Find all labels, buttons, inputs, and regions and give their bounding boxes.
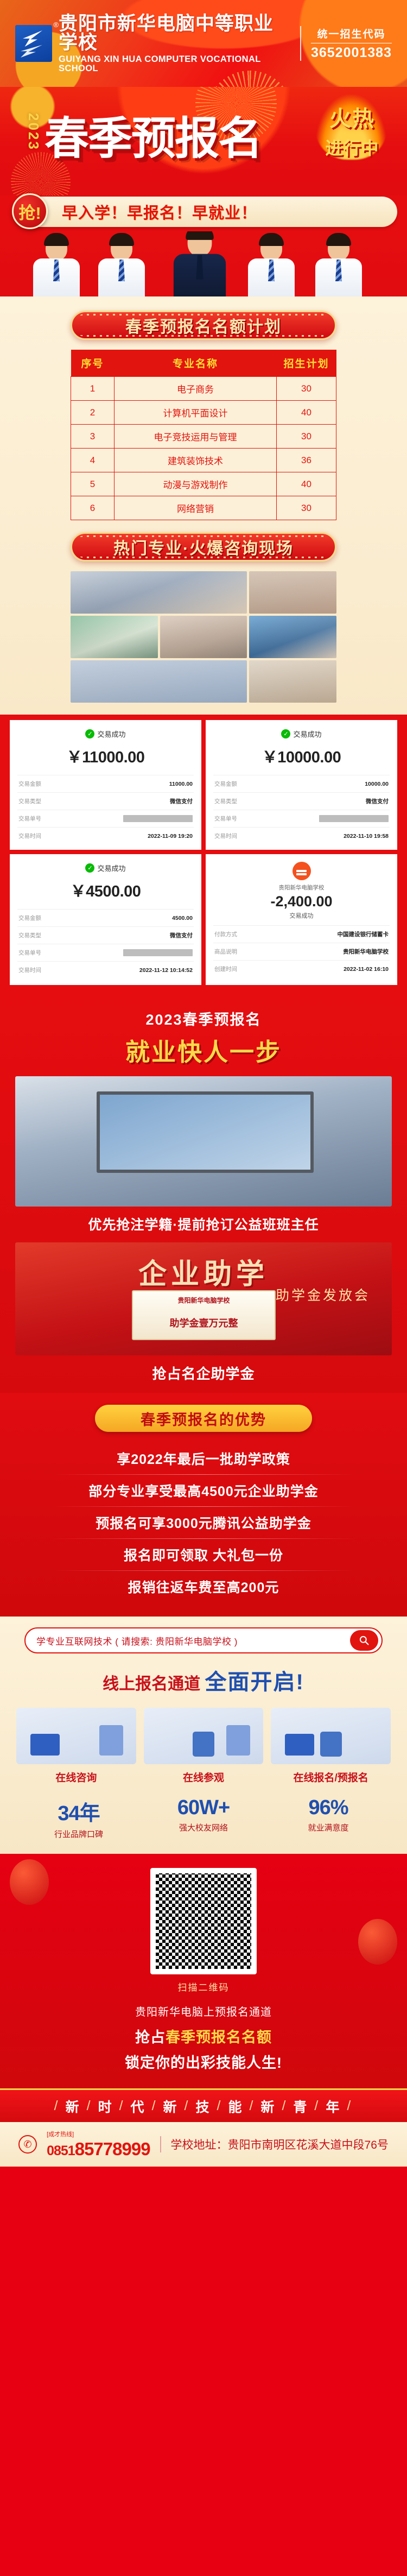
stat-number: 34年 — [16, 1796, 141, 1826]
cell-major: 建筑装饰技术 — [115, 449, 277, 472]
channel-headline: 线上报名通道 全面开启! — [0, 1664, 407, 1696]
hero-title: 春季预报名 — [44, 102, 262, 167]
value-time: 2022-11-12 10:14:52 — [139, 967, 193, 974]
slogan-separator: / — [217, 2098, 223, 2114]
cell-major: 电子竞技运用与管理 — [115, 425, 277, 449]
receipt-row-type: 交易类型 微信支付 — [213, 792, 390, 810]
slogan-char: 能 — [228, 2097, 244, 2116]
hotline-block[interactable]: [成才热线] 085185778999 — [47, 2129, 150, 2160]
slogan-separator: / — [54, 2098, 60, 2114]
cell-quota: 30 — [277, 377, 336, 401]
cell-quota: 36 — [277, 449, 336, 472]
consult-photo — [160, 616, 247, 658]
cell-no: 3 — [71, 425, 115, 449]
receipt-row-type: 交易类型 微信支付 — [17, 926, 194, 944]
value-type: 微信支付 — [366, 797, 389, 805]
channel-card-label: 在线咨询 — [16, 1770, 136, 1784]
slogan-separator: / — [185, 2098, 190, 2114]
hot-badge: 火热 进行中 — [311, 101, 393, 160]
search-input[interactable]: 学专业互联网技术 ( 请搜索: 贵阳新华电脑学校 ) — [36, 1634, 350, 1647]
value-amount: 11000.00 — [169, 781, 193, 787]
cell-no: 4 — [71, 449, 115, 472]
enrollment-code-label: 统一招生代码 — [311, 26, 392, 41]
employment-heading-small: 2023春季预报名 — [0, 1008, 407, 1029]
success-check-icon: ✓ — [281, 729, 290, 738]
hero-banner: 2023 春季预报名 火热 进行中 — [0, 87, 407, 195]
employment-section: 2023春季预报名 就业快人一步 优先抢注学籍·提前抢订公益班班主任 企业助学 … — [0, 994, 407, 1393]
consult-photo — [71, 616, 158, 658]
receipt-status-text: 交易成功 — [97, 729, 125, 739]
receipt-status-text: 交易成功 — [293, 729, 321, 739]
label-type: 交易类型 — [18, 931, 41, 939]
phone-icon: ✆ — [18, 2135, 37, 2154]
redacted-order-no — [123, 815, 193, 822]
cell-major: 电子商务 — [115, 377, 277, 401]
consult-photo — [71, 660, 247, 703]
receipt-amount: ￥10000.00 — [213, 744, 390, 767]
students-photo-band — [0, 231, 407, 296]
hotline-number[interactable]: 085185778999 — [47, 2139, 150, 2159]
grant-subtitle: 助学金发放会 — [276, 1285, 370, 1304]
slogan-char: 年 — [326, 2097, 341, 2116]
enrollment-plan-table: 序号 专业名称 招生计划 1 电子商务 30 2 计算机平面设计 40 3 — [71, 350, 336, 520]
slogan-separator: / — [347, 2098, 353, 2114]
table-row: 4 建筑装饰技术 36 — [71, 449, 336, 472]
receipt-card: ✓ 交易成功 ￥4500.00 交易金额 4500.00 交易类型 微信支付 交… — [10, 854, 201, 985]
receipt-status: ✓ 交易成功 — [281, 729, 321, 739]
stat-caption: 行业品牌口碑 — [16, 1828, 141, 1840]
slogan-separator: / — [152, 2098, 158, 2114]
qr-line1-prefix: 抢占 — [135, 2029, 166, 2045]
label-type: 交易类型 — [18, 797, 41, 805]
receipt-row-orderno: 交易单号 — [17, 944, 194, 961]
online-apply-icon — [271, 1708, 391, 1764]
value-type: 微信支付 — [170, 797, 193, 805]
qr-code[interactable] — [150, 1868, 257, 1974]
school-name-block: 贵阳市新华电脑中等职业学校 GUIYANG XIN HUA COMPUTER V… — [59, 14, 291, 73]
value-time: 2022-11-10 19:58 — [344, 833, 389, 839]
channel-card-label: 在线参观 — [144, 1770, 264, 1784]
receipt-row-time: 交易时间 2022-11-09 19:20 — [17, 827, 194, 844]
label-time: 交易时间 — [18, 832, 41, 840]
footer-contact-bar: ✆ [成才热线] 085185778999 学校地址：贵阳市南明区花溪大道中段7… — [0, 2122, 407, 2167]
alipay-row-paymethod: 付款方式 中国建设银行储蓄卡 — [213, 925, 390, 943]
slogan-separator: / — [249, 2098, 255, 2114]
qr-line1: 抢占春季预报名名额 — [0, 2025, 407, 2047]
search-bar[interactable]: 学专业互联网技术 ( 请搜索: 贵阳新华电脑学校 ) — [24, 1627, 383, 1653]
receipt-status-text: 交易成功 — [97, 863, 125, 873]
school-name-en: GUIYANG XIN HUA COMPUTER VOCATIONAL SCHO… — [59, 55, 291, 73]
slogan-separator: / — [119, 2098, 125, 2114]
receipt-row-amount: 交易金额 10000.00 — [213, 775, 390, 792]
slogan-char: 新 — [66, 2097, 81, 2116]
label-time: 交易时间 — [214, 832, 237, 840]
grant-cta: 抢占名企助学金 — [0, 1363, 407, 1383]
giant-cheque: 贵阳新华电脑学校 助学金壹万元整 — [132, 1290, 276, 1340]
value-goods-desc: 贵阳新华电脑学校 — [343, 948, 389, 956]
receipt-row-orderno: 交易单号 — [17, 810, 194, 827]
student-figure — [30, 236, 82, 296]
channel-card-consult[interactable]: 在线咨询 — [16, 1708, 136, 1784]
advantages-section: 春季预报名的优势 享2022年最后一批助学政策 部分专业享受最高4500元企业助… — [0, 1393, 407, 1617]
stat-caption: 就业满意度 — [266, 1822, 391, 1833]
consult-photo — [249, 571, 336, 614]
lantern-icon — [358, 1919, 397, 1965]
receipt-row-amount: 交易金额 11000.00 — [17, 775, 194, 792]
receipt-header: ✓ 交易成功 — [213, 729, 390, 739]
slogan-char: 时 — [98, 2097, 114, 2116]
alipay-receipt-card: 贵阳新华电脑学校 -2,400.00 交易成功 付款方式 中国建设银行储蓄卡 商… — [206, 854, 397, 985]
grab-badge: 抢! — [12, 193, 48, 229]
redacted-order-no — [319, 815, 389, 822]
advantage-item: 报销往返车费至高200元 — [0, 1571, 407, 1602]
consult-photo — [249, 616, 336, 658]
cell-major: 网络营销 — [115, 496, 277, 520]
school-logo-icon: ® — [15, 25, 52, 62]
cell-no: 6 — [71, 496, 115, 520]
cell-quota: 40 — [277, 472, 336, 496]
alipay-amount: -2,400.00 — [213, 893, 390, 910]
hotline-label: [成才热线] — [47, 2131, 74, 2138]
cell-quota: 30 — [277, 496, 336, 520]
hotline-prefix: 0851 — [47, 2143, 75, 2158]
school-address: 学校地址：贵阳市南明区花溪大道中段76号 — [160, 2136, 389, 2152]
whiteboard-icon — [97, 1091, 314, 1173]
cheque-line2: 助学金壹万元整 — [137, 1316, 270, 1330]
hot-major-ribbon: 热门专业·火爆咨询现场 — [71, 532, 336, 561]
col-header-no: 序号 — [71, 350, 115, 377]
cell-no: 5 — [71, 472, 115, 496]
hot-major-ribbon-title: 热门专业·火爆咨询现场 — [113, 535, 294, 559]
slogan-char: 新 — [260, 2097, 276, 2116]
value-amount: 4500.00 — [172, 915, 193, 921]
hotline-main: 85778999 — [75, 2139, 150, 2159]
cell-no: 1 — [71, 377, 115, 401]
receipt-status: ✓ 交易成功 — [85, 729, 125, 739]
receipt-row-type: 交易类型 微信支付 — [17, 792, 194, 810]
col-header-major: 专业名称 — [115, 350, 277, 377]
student-figure — [245, 236, 297, 296]
plan-ribbon-title: 春季预报名名额计划 — [125, 313, 282, 337]
channel-headline-accent: 全面开启! — [205, 1670, 304, 1694]
channel-cards: 在线咨询 在线参观 在线报名/预报名 — [16, 1708, 391, 1784]
school-name-cn: 贵阳市新华电脑中等职业学校 — [59, 14, 291, 52]
cell-major: 动漫与游戏制作 — [115, 472, 277, 496]
receipt-amount: ￥11000.00 — [17, 744, 194, 767]
table-row: 6 网络营销 30 — [71, 496, 336, 520]
grant-ceremony-photo: 企业助学 助学金发放会 贵阳新华电脑学校 助学金壹万元整 — [15, 1242, 392, 1355]
qr-code-image — [156, 1873, 251, 1969]
table-row: 5 动漫与游戏制作 40 — [71, 472, 336, 496]
advantages-ribbon-title: 春季预报名的优势 — [95, 1405, 312, 1432]
slogan-char: 代 — [131, 2097, 147, 2116]
stat-number: 96% — [266, 1796, 391, 1820]
stats-row: 34年 行业品牌口碑 60W+ 强大校友网络 96% 就业满意度 — [16, 1796, 391, 1840]
redacted-order-no — [123, 949, 193, 956]
alipay-status: 交易成功 — [213, 911, 390, 920]
employment-heading-big: 就业快人一步 — [0, 1032, 407, 1068]
channel-card-label: 在线报名/预报名 — [271, 1770, 391, 1784]
slogan-text: 早入学！早报名！早就业！ — [62, 200, 257, 223]
success-check-icon: ✓ — [85, 729, 94, 738]
table-row: 3 电子竞技运用与管理 30 — [71, 425, 336, 449]
slogan-char: 技 — [195, 2097, 211, 2116]
value-time: 2022-11-09 19:20 — [148, 833, 193, 839]
campus-tour-icon — [144, 1708, 264, 1764]
label-time: 交易时间 — [18, 966, 41, 974]
advantage-item: 享2022年最后一批助学政策 — [0, 1443, 407, 1474]
hot-badge-line1: 火热 — [311, 101, 393, 132]
label-order-no: 交易单号 — [18, 815, 41, 823]
plan-section: 春季预报名名额计划 序号 专业名称 招生计划 1 电子商务 30 2 计算机平面… — [0, 296, 407, 715]
cell-quota: 30 — [277, 425, 336, 449]
advantage-item: 预报名可享3000元腾讯公益助学金 — [0, 1507, 407, 1538]
label-order-no: 交易单号 — [18, 949, 41, 957]
alipay-logo-icon — [292, 862, 311, 880]
channel-card-tour[interactable]: 在线参观 — [144, 1708, 264, 1784]
consult-photo — [249, 660, 336, 703]
payment-receipts-section: ✓ 交易成功 ￥11000.00 交易金额 11000.00 交易类型 微信支付… — [0, 715, 407, 994]
qr-line1-accent: 春季预报名名额 — [166, 2029, 272, 2045]
plan-ribbon: 春季预报名名额计划 — [71, 311, 336, 340]
receipt-header: ✓ 交易成功 — [17, 863, 194, 873]
slogan-char: 青 — [293, 2097, 309, 2116]
classroom-photo — [15, 1076, 392, 1207]
advantage-item: 报名即可领取 大礼包一份 — [0, 1539, 407, 1570]
slogan-separator: / — [314, 2098, 320, 2114]
site-header: ® 贵阳市新华电脑中等职业学校 GUIYANG XIN HUA COMPUTER… — [0, 0, 407, 87]
footer-slogan-bar: / 新 / 时 / 代 / 新 / 技 / 能 / 新 / 青 / 年 / — [0, 2088, 407, 2122]
label-type: 交易类型 — [214, 797, 237, 805]
col-header-quota: 招生计划 — [277, 350, 336, 377]
slogan-pill: 早入学！早报名！早就业！ — [26, 197, 397, 227]
slogan-char: 新 — [163, 2097, 179, 2116]
hero-year: 2023 — [25, 113, 42, 151]
slogan-separator: / — [87, 2098, 93, 2114]
consult-photo — [71, 571, 247, 614]
consult-photo-grid — [71, 571, 336, 703]
alipay-row-goods: 商品说明 贵阳新华电脑学校 — [213, 943, 390, 960]
label-goods-desc: 商品说明 — [214, 948, 237, 956]
qr-line2: 锁定你的出彩技能人生! — [0, 2051, 407, 2072]
qr-caption: 扫描二维码 — [0, 1980, 407, 1993]
search-button[interactable] — [350, 1630, 378, 1651]
student-figure — [96, 236, 148, 296]
label-amount: 交易金额 — [214, 780, 237, 788]
student-figure — [313, 236, 365, 296]
lantern-icon — [10, 1859, 49, 1905]
slogan-separator: / — [282, 2098, 288, 2114]
qr-title-small: 贵阳新华电脑上预报名通道 — [0, 2003, 407, 2019]
stat-item: 60W+ 强大校友网络 — [141, 1796, 266, 1840]
registered-trademark-icon: ® — [53, 21, 59, 29]
label-order-no: 交易单号 — [214, 815, 237, 823]
enrollment-code-block: 统一招生代码 3652001383 — [300, 26, 392, 61]
slogan-bar: 抢! 早入学！早报名！早就业！ — [0, 195, 407, 231]
receipt-amount: ￥4500.00 — [17, 879, 194, 901]
hot-badge-line2: 进行中 — [311, 135, 393, 160]
label-pay-method: 付款方式 — [214, 930, 237, 938]
table-row: 1 电子商务 30 — [71, 377, 336, 401]
stat-item: 34年 行业品牌口碑 — [16, 1796, 141, 1840]
receipt-row-orderno: 交易单号 — [213, 810, 390, 827]
stat-number: 60W+ — [141, 1796, 266, 1820]
search-icon — [359, 1635, 370, 1646]
poster-page: ® 贵阳市新华电脑中等职业学校 GUIYANG XIN HUA COMPUTER… — [0, 0, 407, 2167]
label-amount: 交易金额 — [18, 914, 41, 922]
alipay-row-createtime: 创建时间 2022-11-02 16:10 — [213, 960, 390, 977]
online-channel-section: 学专业互联网技术 ( 请搜索: 贵阳新华电脑学校 ) 线上报名通道 全面开启! … — [0, 1617, 407, 1854]
receipt-card: ✓ 交易成功 ￥11000.00 交易金额 11000.00 交易类型 微信支付… — [10, 720, 201, 850]
teacher-figure — [170, 231, 229, 296]
label-amount: 交易金额 — [18, 780, 41, 788]
receipt-status: ✓ 交易成功 — [85, 863, 125, 873]
cell-no: 2 — [71, 401, 115, 425]
receipt-card: ✓ 交易成功 ￥10000.00 交易金额 10000.00 交易类型 微信支付… — [206, 720, 397, 850]
cheque-line1: 贵阳新华电脑学校 — [137, 1296, 270, 1305]
value-type: 微信支付 — [170, 931, 193, 939]
value-pay-method: 中国建设银行储蓄卡 — [338, 930, 389, 938]
receipt-row-time: 交易时间 2022-11-10 19:58 — [213, 827, 390, 844]
enrollment-code-number: 3652001383 — [311, 43, 392, 61]
qr-section: 扫描二维码 贵阳新华电脑上预报名通道 抢占春季预报名名额 锁定你的出彩技能人生! — [0, 1854, 407, 2088]
stat-caption: 强大校友网络 — [141, 1822, 266, 1833]
label-create-time: 创建时间 — [214, 965, 237, 973]
receipt-row-amount: 交易金额 4500.00 — [17, 909, 194, 926]
cell-major: 计算机平面设计 — [115, 401, 277, 425]
channel-card-apply[interactable]: 在线报名/预报名 — [271, 1708, 391, 1784]
advantage-item: 部分专业享受最高4500元企业助学金 — [0, 1475, 407, 1506]
channel-headline-text: 线上报名通道 — [103, 1675, 200, 1693]
table-header-row: 序号 专业名称 招生计划 — [71, 350, 336, 377]
receipt-row-time: 交易时间 2022-11-12 10:14:52 — [17, 961, 194, 978]
cell-quota: 40 — [277, 401, 336, 425]
receipt-header: ✓ 交易成功 — [17, 729, 194, 739]
value-amount: 10000.00 — [365, 781, 389, 787]
value-create-time: 2022-11-02 16:10 — [344, 966, 389, 973]
success-check-icon: ✓ — [85, 863, 94, 873]
table-row: 2 计算机平面设计 40 — [71, 401, 336, 425]
receipts-grid: ✓ 交易成功 ￥11000.00 交易金额 11000.00 交易类型 微信支付… — [10, 720, 397, 985]
chat-consult-icon — [16, 1708, 136, 1764]
employment-subtitle: 优先抢注学籍·提前抢订公益班班主任 — [0, 1214, 407, 1234]
merchant-name: 贵阳新华电脑学校 — [213, 883, 390, 892]
stat-item: 96% 就业满意度 — [266, 1796, 391, 1840]
